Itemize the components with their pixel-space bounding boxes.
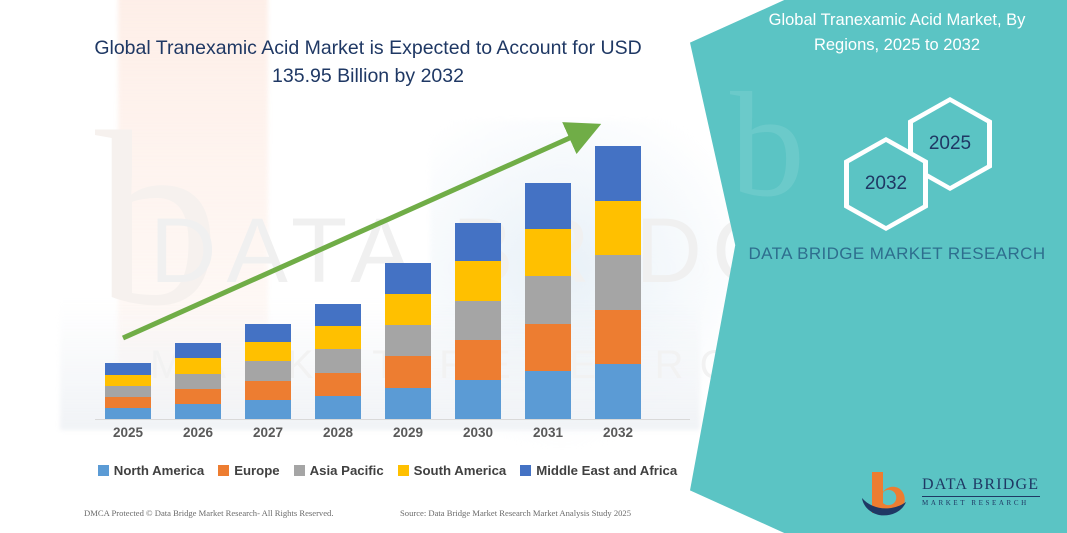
bar-segment (105, 408, 151, 419)
bar-segment (455, 223, 501, 261)
x-axis-label-2026: 2026 (163, 425, 233, 440)
infographic-root: b DATA BRIDGE MARKET RESEARCH Global Tra… (0, 0, 1067, 533)
bar-segment (595, 255, 641, 310)
chart-baseline (95, 419, 690, 420)
legend-swatch-icon (218, 465, 229, 476)
x-axis-label-2025: 2025 (93, 425, 163, 440)
legend-swatch-icon (294, 465, 305, 476)
bar-2032 (595, 146, 641, 419)
bar-segment (525, 276, 571, 324)
legend-item[interactable]: North America (98, 463, 204, 478)
bar-segment (385, 356, 431, 387)
bar-segment (455, 380, 501, 419)
x-axis-label-2028: 2028 (303, 425, 373, 440)
bar-segment (315, 373, 361, 396)
bar-2029 (385, 263, 431, 419)
page-title: Global Tranexamic Acid Market is Expecte… (88, 34, 648, 91)
chart-legend: North AmericaEuropeAsia PacificSouth Ame… (75, 459, 700, 481)
bar-segment (385, 388, 431, 419)
bar-2028 (315, 304, 361, 419)
bar-segment (175, 389, 221, 404)
bar-segment (315, 396, 361, 419)
footer-copyright: DMCA Protected © Data Bridge Market Rese… (84, 508, 334, 518)
bar-segment (525, 229, 571, 277)
legend-swatch-icon (398, 465, 409, 476)
bar-segment (455, 261, 501, 300)
bar-2027 (245, 324, 291, 419)
bar-segment (455, 301, 501, 340)
bar-segment (245, 324, 291, 342)
brand-logo-line1: DATA BRIDGE (922, 476, 1040, 494)
bar-segment (525, 183, 571, 229)
bar-segment (385, 263, 431, 293)
footer-source: Source: Data Bridge Market Research Mark… (400, 508, 631, 518)
brand-logo-text: DATA BRIDGE MARKET RESEARCH (922, 476, 1040, 507)
stacked-bar-chart (75, 110, 700, 420)
chart-plot-area (75, 110, 700, 420)
x-axis-label-2027: 2027 (233, 425, 303, 440)
brand-logo-line2: MARKET RESEARCH (922, 499, 1040, 507)
x-axis-label-2032: 2032 (583, 425, 653, 440)
bar-segment (175, 343, 221, 358)
side-panel: b Global Tranexamic Acid Market, By Regi… (690, 0, 1067, 533)
bar-segment (175, 374, 221, 389)
brand-logo-icon (860, 470, 918, 516)
bar-segment (245, 381, 291, 400)
brand-logo: DATA BRIDGE MARKET RESEARCH (860, 470, 1040, 518)
x-axis-label-2029: 2029 (373, 425, 443, 440)
bar-segment (315, 326, 361, 349)
bar-segment (245, 400, 291, 419)
bar-segment (385, 325, 431, 356)
x-axis-label-2030: 2030 (443, 425, 513, 440)
hexagon-badges: 2025 2032 (830, 95, 1050, 205)
legend-swatch-icon (520, 465, 531, 476)
bar-segment (175, 404, 221, 419)
side-panel-title: Global Tranexamic Acid Market, By Region… (742, 8, 1052, 58)
hexagon-badge-2025-label: 2025 (929, 133, 971, 155)
legend-label: Middle East and Africa (536, 463, 677, 478)
legend-label: North America (114, 463, 204, 478)
bar-segment (245, 342, 291, 361)
bar-segment (105, 397, 151, 408)
legend-item[interactable]: Asia Pacific (294, 463, 384, 478)
bar-segment (525, 324, 571, 372)
legend-label: Europe (234, 463, 279, 478)
bar-segment (595, 146, 641, 201)
bar-segment (105, 375, 151, 386)
legend-item[interactable]: Europe (218, 463, 279, 478)
footer: DMCA Protected © Data Bridge Market Rese… (0, 505, 700, 525)
bar-segment (525, 371, 571, 419)
brand-logo-rule (922, 496, 1040, 497)
hexagon-badge-2032-label: 2032 (865, 173, 907, 195)
bar-segment (455, 340, 501, 379)
bar-2025 (105, 363, 151, 419)
legend-label: South America (414, 463, 507, 478)
legend-swatch-icon (98, 465, 109, 476)
bar-segment (105, 386, 151, 397)
bar-2026 (175, 343, 221, 419)
side-panel-brand: DATA BRIDGE MARKET RESEARCH (742, 240, 1052, 269)
bar-segment (105, 363, 151, 374)
bar-segment (175, 358, 221, 373)
bar-2030 (455, 223, 501, 419)
x-axis-label-2031: 2031 (513, 425, 583, 440)
bar-segment (315, 349, 361, 372)
bar-segment (385, 294, 431, 325)
side-panel-watermark: b (730, 70, 805, 220)
legend-item[interactable]: Middle East and Africa (520, 463, 677, 478)
bar-segment (315, 304, 361, 326)
chart-x-axis-labels: 20252026202720282029203020312032 (75, 425, 700, 445)
legend-label: Asia Pacific (310, 463, 384, 478)
bar-segment (245, 361, 291, 380)
bar-2031 (525, 183, 571, 419)
bar-segment (595, 310, 641, 365)
bar-segment (595, 364, 641, 419)
legend-item[interactable]: South America (398, 463, 507, 478)
bar-segment (595, 201, 641, 256)
